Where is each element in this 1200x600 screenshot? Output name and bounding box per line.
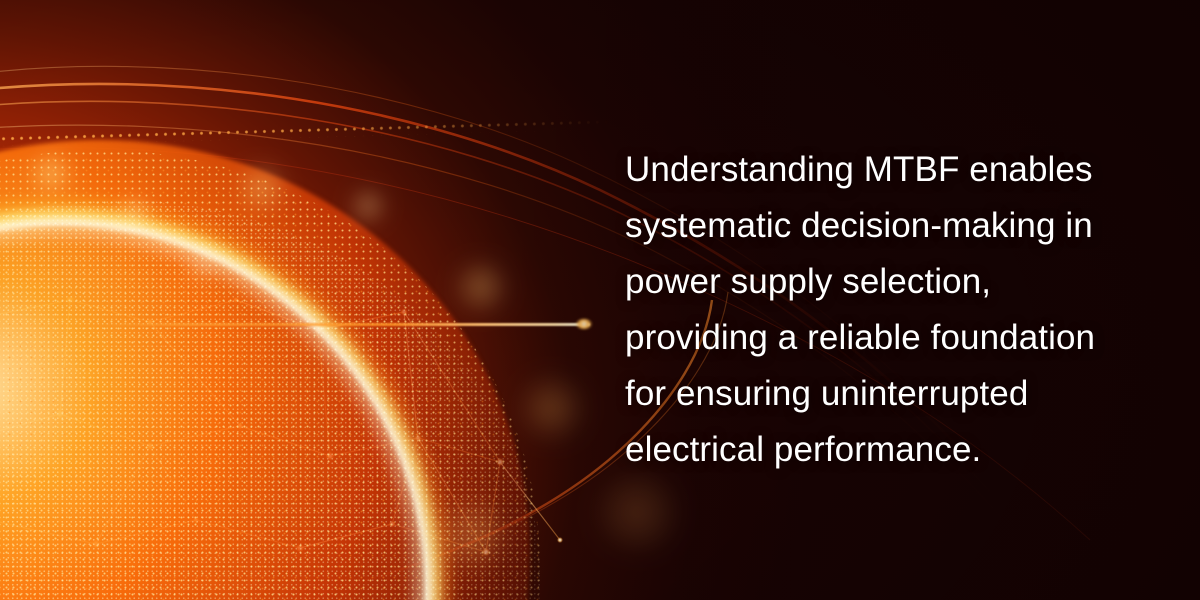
bokeh-particle [186, 252, 216, 282]
bokeh-particle [516, 372, 588, 444]
headline-line: electrical performance. [625, 422, 1145, 478]
headline-line: providing a reliable foundation [625, 310, 1145, 366]
bokeh-particle [28, 150, 74, 196]
bokeh-particle [452, 258, 510, 316]
comet-streak [95, 323, 590, 326]
mtbf-banner: Understanding MTBF enables systematic de… [0, 0, 1200, 600]
bokeh-particle [118, 196, 152, 230]
bokeh-particle [348, 186, 388, 226]
headline-paragraph: Understanding MTBF enables systematic de… [625, 142, 1145, 478]
headline-line: systematic decision-making in [625, 198, 1145, 254]
headline-line: power supply selection, [625, 254, 1145, 310]
headline-line: for ensuring uninterrupted [625, 366, 1145, 422]
comet-head-glow [576, 319, 592, 329]
bokeh-particle [590, 470, 686, 554]
bokeh-particle [430, 498, 514, 572]
bokeh-particle [236, 162, 288, 214]
headline-line: Understanding MTBF enables [625, 142, 1145, 198]
